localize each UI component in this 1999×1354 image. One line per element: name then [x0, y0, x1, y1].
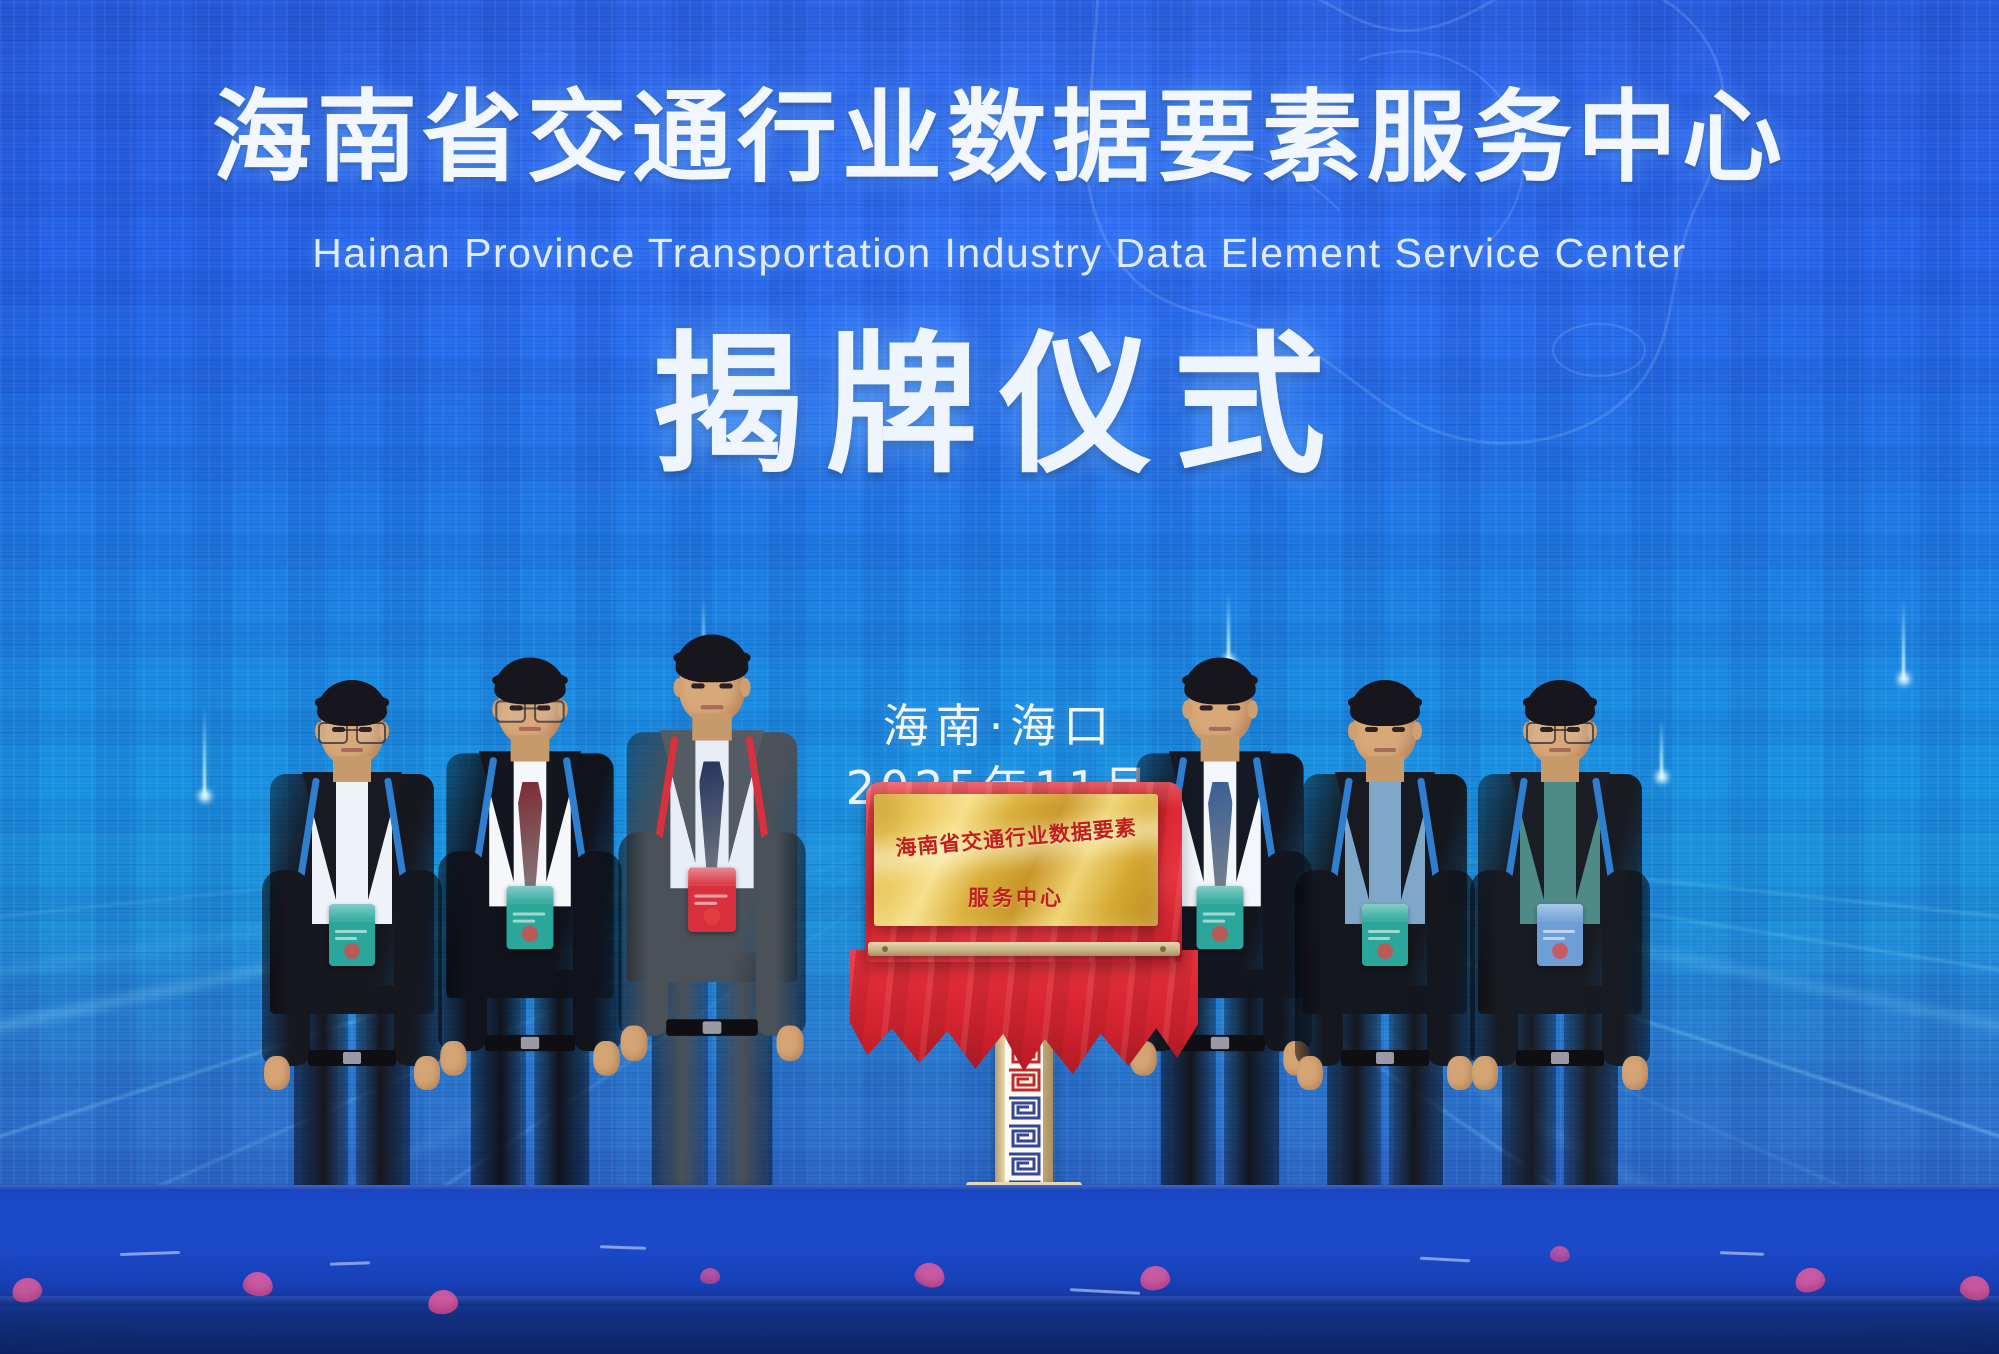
lanyard [665, 736, 759, 892]
belt [485, 1035, 575, 1051]
name-badge [688, 867, 736, 931]
badge-header-strip [1362, 904, 1408, 920]
belt [1341, 1050, 1429, 1066]
eye-left [332, 727, 345, 732]
crossbar-screw-right [1160, 946, 1166, 952]
badge-header-strip [1537, 904, 1583, 920]
badge-qr-dot [704, 908, 721, 925]
ear-right [1248, 700, 1258, 718]
hand-left [1472, 1056, 1498, 1090]
hand-right [1622, 1056, 1648, 1090]
name-badge [1537, 904, 1583, 966]
lanyard [307, 778, 397, 928]
badge-header-strip [1197, 886, 1244, 902]
hand-left [440, 1041, 467, 1076]
official-person [588, 640, 837, 1246]
badge-text-line [1543, 930, 1575, 933]
torso [1303, 774, 1467, 1014]
ceremony-photo: 海南省交通行业数据要素服务中心 Hainan Province Transpor… [0, 0, 1999, 1354]
torso [270, 774, 434, 1014]
hand-left [1297, 1056, 1323, 1090]
lanyard [484, 757, 576, 910]
ear-left [1348, 722, 1358, 740]
neck [1541, 756, 1579, 782]
meander-unit [1005, 1094, 1043, 1122]
badge-header-strip [329, 904, 375, 920]
plaque-line-2: 服务中心 [874, 882, 1158, 912]
badge-text-line [335, 937, 357, 940]
plaque-assembly: 海南省交通行业数据要素 服务中心 [874, 800, 1174, 1220]
badge-header-strip [688, 867, 736, 884]
glasses-bridge [1552, 729, 1568, 731]
belt [666, 1019, 758, 1036]
screen-title-english: Hainan Province Transportation Industry … [0, 230, 1999, 277]
eye-left [1200, 705, 1213, 710]
belt [308, 1050, 396, 1066]
badge-text-line [335, 930, 367, 933]
badge-text-line [1203, 919, 1225, 922]
stage-floor [0, 1185, 1999, 1354]
plaque-crossbar [868, 942, 1180, 956]
badge-text-line [1543, 937, 1565, 940]
lanyard [1340, 778, 1430, 928]
stage-floor-front-edge [0, 1185, 1999, 1191]
belt [1516, 1050, 1604, 1066]
red-drape-skirt [850, 950, 1198, 1085]
name-badge [1362, 904, 1408, 966]
badge-text-line [513, 919, 535, 922]
arm-left [1470, 870, 1518, 1066]
badge-text-line [1368, 937, 1390, 940]
meander-unit [1005, 1150, 1043, 1178]
hair [1184, 657, 1255, 704]
head [497, 663, 562, 745]
glasses-bridge [522, 707, 538, 709]
head [1528, 686, 1592, 766]
head [1353, 686, 1417, 766]
mouth [1549, 748, 1571, 752]
head [320, 686, 384, 766]
official-person [1445, 686, 1675, 1246]
badge-qr-dot [344, 943, 360, 959]
badge-header-strip [507, 886, 554, 902]
hair [1350, 680, 1420, 726]
mouth [341, 748, 363, 752]
name-badge [329, 904, 375, 966]
crossbar-screw-left [882, 946, 888, 952]
torso [627, 732, 798, 982]
ear-left [674, 678, 684, 697]
eye-left [510, 705, 523, 710]
badge-text-line [513, 912, 546, 915]
eye-right [1567, 727, 1580, 732]
hand-left [620, 1025, 647, 1060]
neck [1366, 756, 1404, 782]
hair [676, 634, 749, 682]
arm-right [1602, 870, 1650, 1066]
arm-left [618, 832, 668, 1036]
meander-unit [1005, 1122, 1043, 1150]
arm-left [262, 870, 310, 1066]
head [1187, 663, 1252, 745]
head [679, 640, 746, 723]
stage-apron [0, 1296, 1999, 1306]
screen-title-chinese: 海南省交通行业数据要素服务中心 [0, 56, 1999, 201]
eye-right [1227, 705, 1240, 710]
hair [317, 680, 387, 726]
eye-left [1540, 727, 1553, 732]
eye-right [537, 705, 550, 710]
badge-qr-dot [1212, 926, 1228, 942]
arm-left [1295, 870, 1343, 1066]
hand-right [776, 1025, 803, 1060]
lanyard [1174, 757, 1266, 910]
eye-left [1365, 727, 1378, 732]
neck [692, 713, 732, 740]
gold-plaque: 海南省交通行业数据要素 服务中心 [874, 794, 1158, 926]
badge-text-line [1368, 930, 1400, 933]
eye-right [719, 683, 733, 688]
red-drape-cover: 海南省交通行业数据要素 服务中心 [866, 782, 1182, 962]
mouth [701, 705, 724, 709]
hand-left [264, 1056, 290, 1090]
name-badge [507, 886, 554, 949]
neck [1201, 735, 1240, 762]
neck [511, 735, 550, 762]
screen-headline-unveiling-ceremony: 揭牌仪式 [0, 282, 1999, 502]
badge-qr-dot [1552, 943, 1568, 959]
ear-right [740, 678, 750, 697]
badge-text-line [694, 901, 717, 904]
name-badge [1197, 886, 1244, 949]
eye-right [359, 727, 372, 732]
neck [333, 756, 371, 782]
drape-fold-texture [850, 950, 1198, 1085]
badge-qr-dot [522, 926, 538, 942]
arm-right [756, 832, 806, 1036]
eye-left [691, 683, 705, 688]
arm-left [438, 851, 487, 1051]
eye-right [1392, 727, 1405, 732]
badge-qr-dot [1377, 943, 1393, 959]
badge-text-line [1203, 912, 1236, 915]
mouth [519, 727, 541, 731]
glasses-bridge [344, 729, 360, 731]
torso [1478, 774, 1642, 1014]
hair [494, 657, 565, 704]
lanyard [1515, 778, 1605, 928]
hair [1525, 680, 1595, 726]
mouth [1374, 748, 1396, 752]
ear-right [1412, 722, 1422, 740]
mouth [1209, 727, 1231, 731]
ear-left [1182, 700, 1192, 718]
badge-text-line [694, 894, 727, 897]
